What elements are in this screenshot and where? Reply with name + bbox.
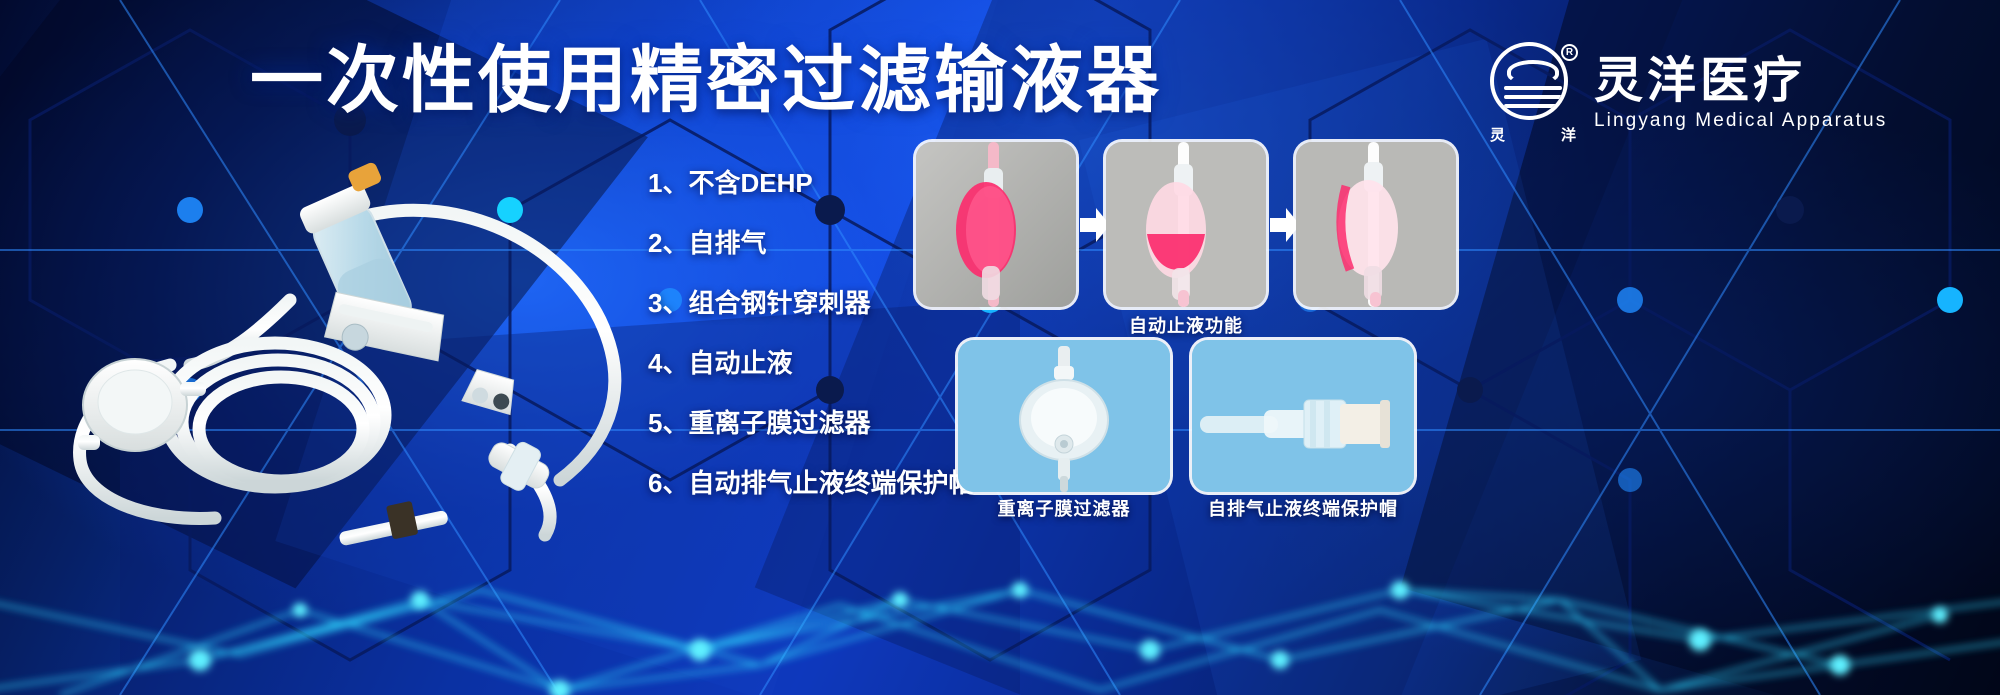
product-banner: 一次性使用精密过滤输液器 R 灵 洋 灵洋医疗 Lingyang Medical… bbox=[0, 0, 2000, 695]
slide-clamp-part bbox=[462, 368, 519, 414]
seal-circle-icon bbox=[1490, 42, 1568, 120]
demo-frame-1 bbox=[916, 142, 1076, 307]
seal-caption: 灵 洋 bbox=[1490, 124, 1576, 145]
page-title: 一次性使用精密过滤输液器 bbox=[250, 44, 1162, 117]
demo-caption-text: 自动止液功能 bbox=[1129, 316, 1243, 336]
detail-caption-cap: 自排气止液终端保护帽 bbox=[1192, 495, 1414, 521]
brand-logo: R 灵 洋 灵洋医疗 Lingyang Medical Apparatus bbox=[1490, 42, 1887, 146]
brand-name-block: 灵洋医疗 Lingyang Medical Apparatus bbox=[1594, 56, 1887, 132]
needle-hub-part bbox=[335, 494, 450, 550]
registered-trademark-icon: R bbox=[1561, 44, 1578, 61]
product-photo bbox=[40, 150, 660, 550]
detail-caption-text: 重离子膜过滤器 bbox=[998, 499, 1131, 519]
list-item: 5、重离子膜过滤器 bbox=[648, 410, 978, 436]
detail-photo-filter bbox=[958, 340, 1170, 492]
detail-caption-text: 自排气止液终端保护帽 bbox=[1208, 499, 1398, 519]
brand-name-cn: 灵洋医疗 bbox=[1594, 56, 1887, 107]
demo-frame-2 bbox=[1106, 142, 1266, 307]
wave-bird-icon bbox=[1507, 60, 1559, 84]
wave-line-icon bbox=[1504, 86, 1562, 90]
detail-photo-cap bbox=[1192, 340, 1414, 492]
list-item: 6、自动排气止液终端保护帽 bbox=[648, 470, 978, 496]
demo-frame-3 bbox=[1296, 142, 1456, 307]
demo-caption: 自动止液功能 bbox=[916, 312, 1456, 338]
wave-line-icon bbox=[1504, 104, 1562, 108]
logo-seal-icon: R 灵 洋 bbox=[1490, 42, 1576, 146]
seal-char-right: 洋 bbox=[1561, 124, 1576, 145]
list-item: 4、自动止液 bbox=[648, 350, 978, 376]
detail-caption-filter: 重离子膜过滤器 bbox=[958, 495, 1170, 521]
seal-char-left: 灵 bbox=[1490, 124, 1505, 145]
wave-line-icon bbox=[1504, 95, 1562, 99]
brand-name-en: Lingyang Medical Apparatus bbox=[1594, 110, 1887, 132]
